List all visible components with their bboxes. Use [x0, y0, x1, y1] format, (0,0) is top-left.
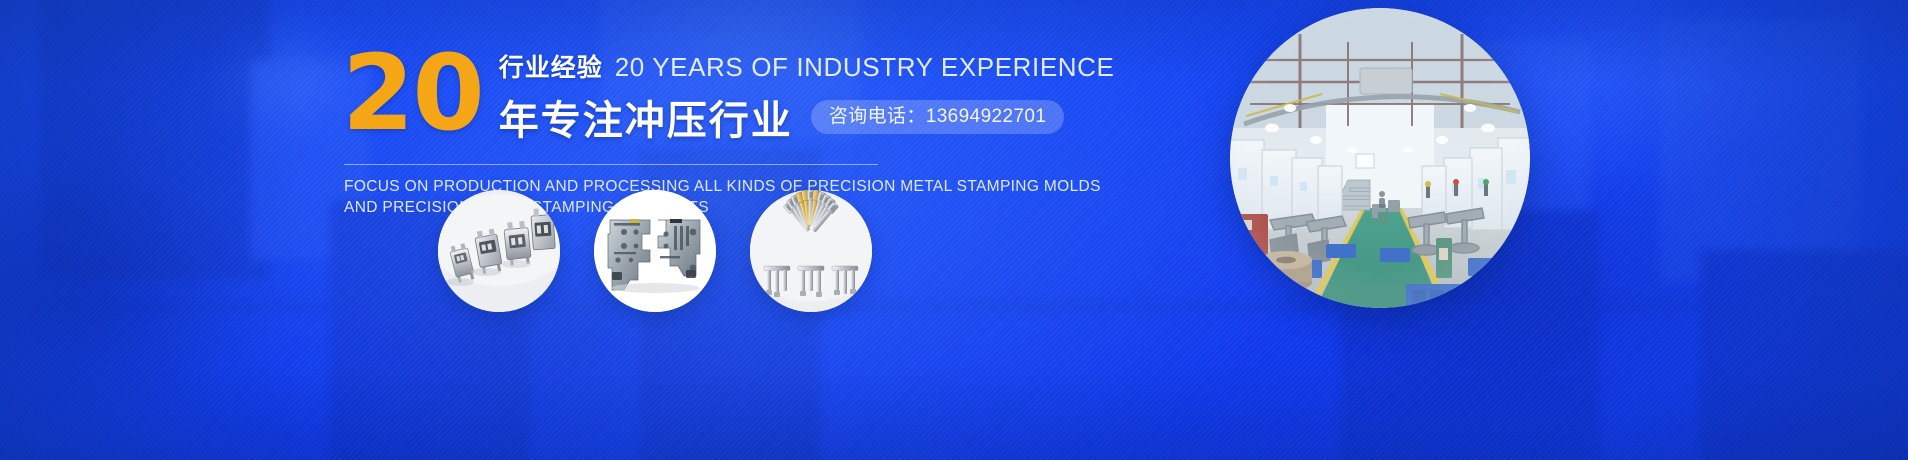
experience-label-en: 20 YEARS OF INDUSTRY EXPERIENCE: [615, 52, 1115, 83]
product-circle-stamping-mold[interactable]: [594, 190, 716, 312]
factory-photo-circle[interactable]: [1230, 8, 1530, 308]
promo-banner: 20 行业经验 20 YEARS OF INDUSTRY EXPERIENCE …: [0, 0, 1908, 460]
phone-badge[interactable]: 咨询电话：13694922701: [811, 100, 1065, 135]
headline-divider: [344, 164, 878, 165]
headline-row: 20 行业经验 20 YEARS OF INDUSTRY EXPERIENCE …: [342, 40, 1102, 146]
focus-industry-label-cn: 年专注冲压行业: [499, 88, 793, 146]
product-circle-metal-terminals[interactable]: [750, 190, 872, 312]
experience-label-cn: 行业经验: [499, 48, 603, 84]
product-thumbnails: [438, 190, 872, 312]
headline-text-group: 行业经验 20 YEARS OF INDUSTRY EXPERIENCE 年专注…: [499, 40, 1115, 146]
headline-line-two: 年专注冲压行业 咨询电话：13694922701: [499, 88, 1115, 146]
product-circle-usb-connectors[interactable]: [438, 190, 560, 312]
years-number: 20: [342, 46, 483, 142]
headline-line-one: 行业经验 20 YEARS OF INDUSTRY EXPERIENCE: [499, 48, 1115, 82]
